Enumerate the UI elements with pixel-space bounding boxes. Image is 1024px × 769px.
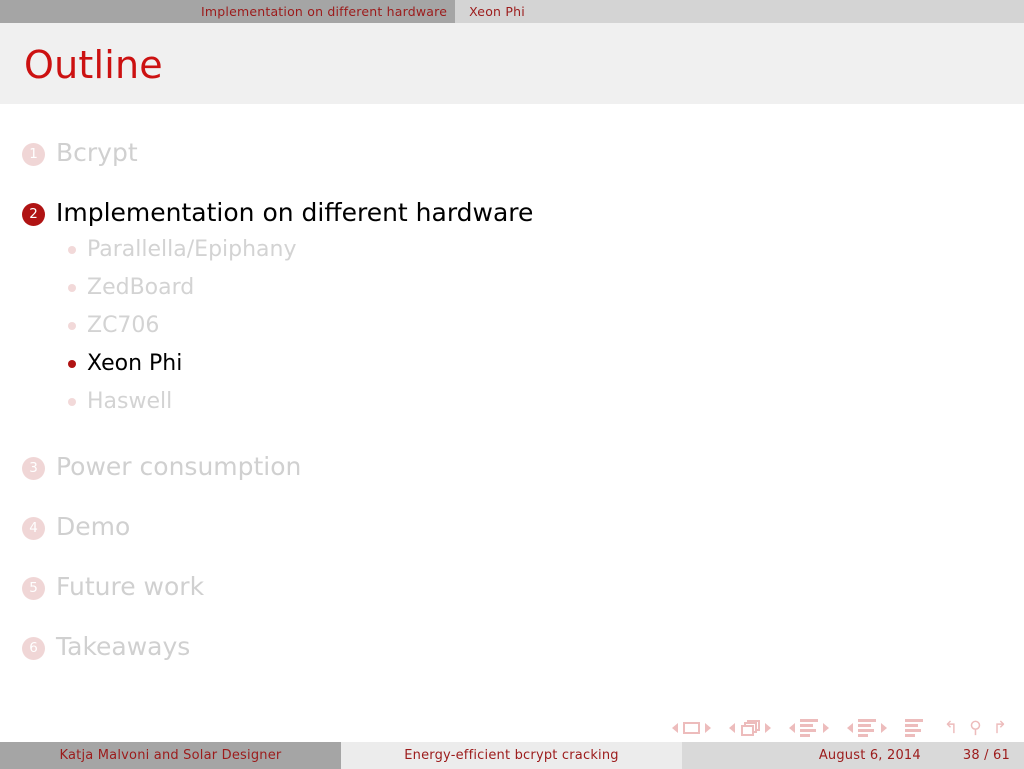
section-icon[interactable] bbox=[858, 719, 876, 737]
navbar-current-subsection[interactable]: Xeon Phi bbox=[455, 0, 539, 23]
bullet-icon bbox=[68, 360, 76, 368]
frame-icon[interactable] bbox=[740, 720, 760, 736]
navbar-current-section[interactable]: Implementation on different hardware bbox=[193, 0, 455, 23]
navbar-left-spacer bbox=[0, 0, 193, 23]
bullet-icon bbox=[68, 322, 76, 330]
slide-body: 1Bcrypt2Implementation on different hard… bbox=[0, 104, 1024, 704]
footer-right: August 6, 2014 38 / 61 bbox=[682, 742, 1024, 769]
footer-title: Energy-efficient bcrypt cracking bbox=[341, 742, 682, 769]
navbar-right-spacer bbox=[539, 0, 1024, 23]
toc-subsection-label: Haswell bbox=[87, 386, 172, 418]
slide-footer: Katja Malvoni and Solar Designer Energy-… bbox=[0, 742, 1024, 769]
bullet-icon bbox=[68, 284, 76, 292]
toc-section-label: Implementation on different hardware bbox=[56, 196, 533, 230]
prev-slide-icon[interactable] bbox=[672, 723, 678, 733]
next-subsection-icon[interactable] bbox=[823, 723, 829, 733]
presentation-navigation-group bbox=[905, 719, 923, 737]
search-icon[interactable]: ⚲ bbox=[969, 720, 981, 737]
toc-section-item[interactable]: 3Power consumption bbox=[0, 450, 1024, 484]
footer-date: August 6, 2014 bbox=[819, 748, 921, 763]
frame-navigation-group bbox=[729, 720, 771, 736]
next-frame-icon[interactable] bbox=[765, 723, 771, 733]
toc-subsection-label: ZC706 bbox=[87, 310, 159, 342]
toc-section-item[interactable]: 6Takeaways bbox=[0, 630, 1024, 664]
history-navigation-group: ↰ ⚲ ↱ bbox=[941, 720, 1010, 737]
slide-navigation-group bbox=[672, 722, 711, 734]
toc-subsection-label: ZedBoard bbox=[87, 272, 194, 304]
frame-title-band: Outline bbox=[0, 23, 1024, 104]
bullet-icon bbox=[68, 246, 76, 254]
toc-section-item[interactable]: 5Future work bbox=[0, 570, 1024, 604]
toc-section-number: 5 bbox=[22, 577, 45, 600]
footer-page-number: 38 / 61 bbox=[963, 748, 1010, 763]
toc-section-label: Future work bbox=[56, 570, 204, 604]
bullet-icon bbox=[68, 398, 76, 406]
toc-section-item[interactable]: 2Implementation on different hardware bbox=[0, 196, 1024, 230]
forward-icon[interactable]: ↱ bbox=[993, 720, 1007, 737]
toc-subsection-item[interactable]: ZC706 bbox=[0, 310, 1024, 348]
prev-section-icon[interactable] bbox=[847, 723, 853, 733]
miniframe-navigation-bar: Implementation on different hardware Xeo… bbox=[0, 0, 1024, 23]
prev-subsection-icon[interactable] bbox=[789, 723, 795, 733]
page-title: Outline bbox=[24, 43, 163, 87]
toc-subsection-item[interactable]: Haswell bbox=[0, 386, 1024, 424]
next-slide-icon[interactable] bbox=[705, 723, 711, 733]
subsection-navigation-group bbox=[789, 719, 829, 737]
toc-subsection-item[interactable]: Xeon Phi bbox=[0, 348, 1024, 386]
toc-section-label: Power consumption bbox=[56, 450, 301, 484]
section-navigation-group bbox=[847, 719, 887, 737]
toc-subsection-label: Xeon Phi bbox=[87, 348, 182, 380]
toc-subsection-item[interactable]: Parallella/Epiphany bbox=[0, 234, 1024, 272]
toc-section-item[interactable]: 4Demo bbox=[0, 510, 1024, 544]
table-of-contents: 1Bcrypt2Implementation on different hard… bbox=[0, 136, 1024, 664]
toc-section-label: Bcrypt bbox=[56, 136, 138, 170]
back-icon[interactable]: ↰ bbox=[944, 720, 958, 737]
presentation-icon[interactable] bbox=[905, 719, 923, 737]
toc-section-number: 1 bbox=[22, 143, 45, 166]
next-section-icon[interactable] bbox=[881, 723, 887, 733]
prev-frame-icon[interactable] bbox=[729, 723, 735, 733]
toc-section-number: 2 bbox=[22, 203, 45, 226]
footer-author: Katja Malvoni and Solar Designer bbox=[0, 742, 341, 769]
toc-subsection-item[interactable]: ZedBoard bbox=[0, 272, 1024, 310]
toc-section-label: Demo bbox=[56, 510, 130, 544]
toc-section-item[interactable]: 1Bcrypt bbox=[0, 136, 1024, 170]
toc-subsection-list: Parallella/EpiphanyZedBoardZC706Xeon Phi… bbox=[0, 234, 1024, 424]
beamer-navigation-symbols: ↰ ⚲ ↱ bbox=[672, 714, 1010, 742]
toc-section-number: 4 bbox=[22, 517, 45, 540]
slide-icon[interactable] bbox=[683, 722, 700, 734]
subsection-icon[interactable] bbox=[800, 719, 818, 737]
toc-subsection-label: Parallella/Epiphany bbox=[87, 234, 297, 266]
toc-section-number: 6 bbox=[22, 637, 45, 660]
toc-section-label: Takeaways bbox=[56, 630, 190, 664]
toc-section-number: 3 bbox=[22, 457, 45, 480]
